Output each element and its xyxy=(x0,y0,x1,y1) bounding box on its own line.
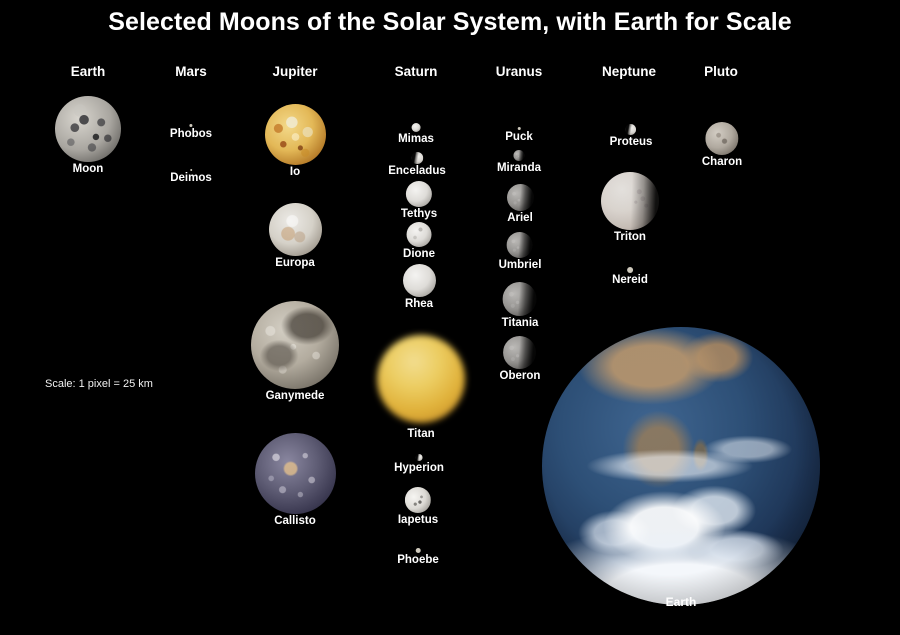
earth-disc xyxy=(542,327,820,605)
moon-miranda: Miranda xyxy=(497,163,541,174)
moon-disc-wrap xyxy=(503,336,536,369)
moon-disc-hyperion xyxy=(416,454,423,461)
moon-disc-wrap xyxy=(406,222,431,247)
column-header-pluto: Pluto xyxy=(704,64,738,79)
moon-label: Nereid xyxy=(612,274,648,286)
moon-ariel: Ariel xyxy=(507,213,534,224)
moon-disc-enceladus xyxy=(411,152,423,164)
moon-disc-wrap xyxy=(251,301,339,389)
moon-charon: Charon xyxy=(702,157,742,168)
moon-iapetus: Iapetus xyxy=(398,515,438,526)
moon-disc-titania xyxy=(503,282,537,316)
moon-disc-wrap xyxy=(269,203,322,256)
moon-disc-wrap xyxy=(625,124,636,135)
moon-disc-wrap xyxy=(189,124,192,127)
moon-disc-europa xyxy=(269,203,322,256)
moon-label: Miranda xyxy=(497,162,541,174)
moon-disc-wrap xyxy=(518,127,521,130)
moon-disc-wrap xyxy=(55,96,121,162)
moon-disc-ariel xyxy=(507,184,534,211)
moon-disc-phobos xyxy=(189,124,192,127)
moon-disc-wrap xyxy=(255,433,336,514)
moon-disc-deimos xyxy=(190,169,192,171)
moon-mimas: Mimas xyxy=(398,134,434,145)
moon-disc-titan xyxy=(377,335,465,423)
moon-label: Dione xyxy=(403,248,435,260)
moon-disc-umbriel xyxy=(507,232,533,258)
column-header-earth: Earth xyxy=(71,64,106,79)
column-header-mars: Mars xyxy=(175,64,207,79)
moon-enceladus: Enceladus xyxy=(388,166,446,177)
moon-label: Triton xyxy=(601,231,659,243)
moon-label: Tethys xyxy=(401,208,437,220)
moon-label: Hyperion xyxy=(394,462,444,474)
moon-disc-dione xyxy=(406,222,431,247)
moon-phoebe: Phoebe xyxy=(397,555,439,566)
moon-disc-oberon xyxy=(503,336,536,369)
moon-rhea: Rhea xyxy=(403,299,436,310)
moon-label: Europa xyxy=(269,257,322,269)
scale-note: Scale: 1 pixel = 25 km xyxy=(45,378,153,390)
moon-label: Io xyxy=(265,166,326,178)
moon-disc-wrap xyxy=(627,267,633,273)
moon-disc-wrap xyxy=(415,548,420,553)
moon-disc-wrap xyxy=(190,169,192,171)
moon-disc-wrap xyxy=(514,150,525,161)
moon-disc-wrap xyxy=(406,181,432,207)
moon-label: Phoebe xyxy=(397,554,439,566)
moon-disc-nereid xyxy=(627,267,633,273)
moon-label: Mimas xyxy=(398,133,434,145)
moon-label: Moon xyxy=(55,163,121,175)
moon-label: Umbriel xyxy=(499,259,542,271)
moon-deimos: Deimos xyxy=(170,173,212,184)
moon-disc-proteus xyxy=(625,124,636,135)
moon-disc-iapetus xyxy=(405,487,431,513)
moon-label: Iapetus xyxy=(398,514,438,526)
moon-disc-callisto xyxy=(255,433,336,514)
moon-disc-ganymede xyxy=(251,301,339,389)
moon-disc-puck xyxy=(518,127,521,130)
moon-label: Ganymede xyxy=(251,390,339,402)
poster-canvas: Selected Moons of the Solar System, with… xyxy=(0,0,900,635)
moon-hyperion: Hyperion xyxy=(394,463,444,474)
moon-disc-rhea xyxy=(403,264,436,297)
moon-disc-wrap xyxy=(411,152,423,164)
moon-label: Oberon xyxy=(500,370,541,382)
moon-disc-wrap xyxy=(601,172,659,230)
moon-disc-wrap xyxy=(265,104,326,165)
moon-disc-wrap xyxy=(503,282,537,316)
moon-disc-wrap xyxy=(411,123,420,132)
moon-label: Puck xyxy=(505,131,533,143)
moon-disc-phoebe xyxy=(415,548,420,553)
moon-triton: Triton xyxy=(601,232,659,243)
moon-ganymede: Ganymede xyxy=(251,391,339,402)
moon-dione: Dione xyxy=(403,249,435,260)
moon-label: Proteus xyxy=(610,136,653,148)
moon-disc-wrap xyxy=(507,232,533,258)
moon-disc-triton xyxy=(601,172,659,230)
column-header-saturn: Saturn xyxy=(395,64,438,79)
earth-figure: Earth xyxy=(542,327,820,605)
earth-label: Earth xyxy=(542,595,820,609)
moon-disc-charon xyxy=(706,122,739,155)
moon-disc-tethys xyxy=(406,181,432,207)
moon-titan: Titan xyxy=(373,429,469,440)
moon-label: Phobos xyxy=(170,128,212,140)
moon-nereid: Nereid xyxy=(612,275,648,286)
moon-disc-miranda xyxy=(514,150,525,161)
moon-io: Io xyxy=(265,167,326,178)
moon-label: Deimos xyxy=(170,172,212,184)
moon-disc-wrap xyxy=(416,454,423,461)
moon-label: Enceladus xyxy=(388,165,446,177)
moon-disc-wrap xyxy=(405,487,431,513)
moon-tethys: Tethys xyxy=(401,209,437,220)
moon-disc-wrap xyxy=(507,184,534,211)
moon-label: Titan xyxy=(373,428,469,440)
moon-titania: Titania xyxy=(502,318,539,329)
moon-phobos: Phobos xyxy=(170,129,212,140)
moon-proteus: Proteus xyxy=(610,137,653,148)
moon-disc-moon xyxy=(55,96,121,162)
moon-disc-wrap xyxy=(706,122,739,155)
moon-puck: Puck xyxy=(505,132,533,143)
moon-label: Titania xyxy=(502,317,539,329)
moon-disc-mimas xyxy=(411,123,420,132)
moon-europa: Europa xyxy=(269,258,322,269)
moon-oberon: Oberon xyxy=(500,371,541,382)
moon-label: Rhea xyxy=(403,298,436,310)
moon-label: Ariel xyxy=(507,212,534,224)
page-title: Selected Moons of the Solar System, with… xyxy=(0,8,900,37)
column-header-jupiter: Jupiter xyxy=(272,64,317,79)
moon-callisto: Callisto xyxy=(255,516,336,527)
moon-disc-wrap xyxy=(373,331,469,427)
moon-moon: Moon xyxy=(55,164,121,175)
moon-disc-wrap xyxy=(403,264,436,297)
moon-umbriel: Umbriel xyxy=(499,260,542,271)
column-header-uranus: Uranus xyxy=(496,64,543,79)
moon-label: Callisto xyxy=(255,515,336,527)
column-header-neptune: Neptune xyxy=(602,64,656,79)
moon-label: Charon xyxy=(702,156,742,168)
moon-disc-io xyxy=(265,104,326,165)
